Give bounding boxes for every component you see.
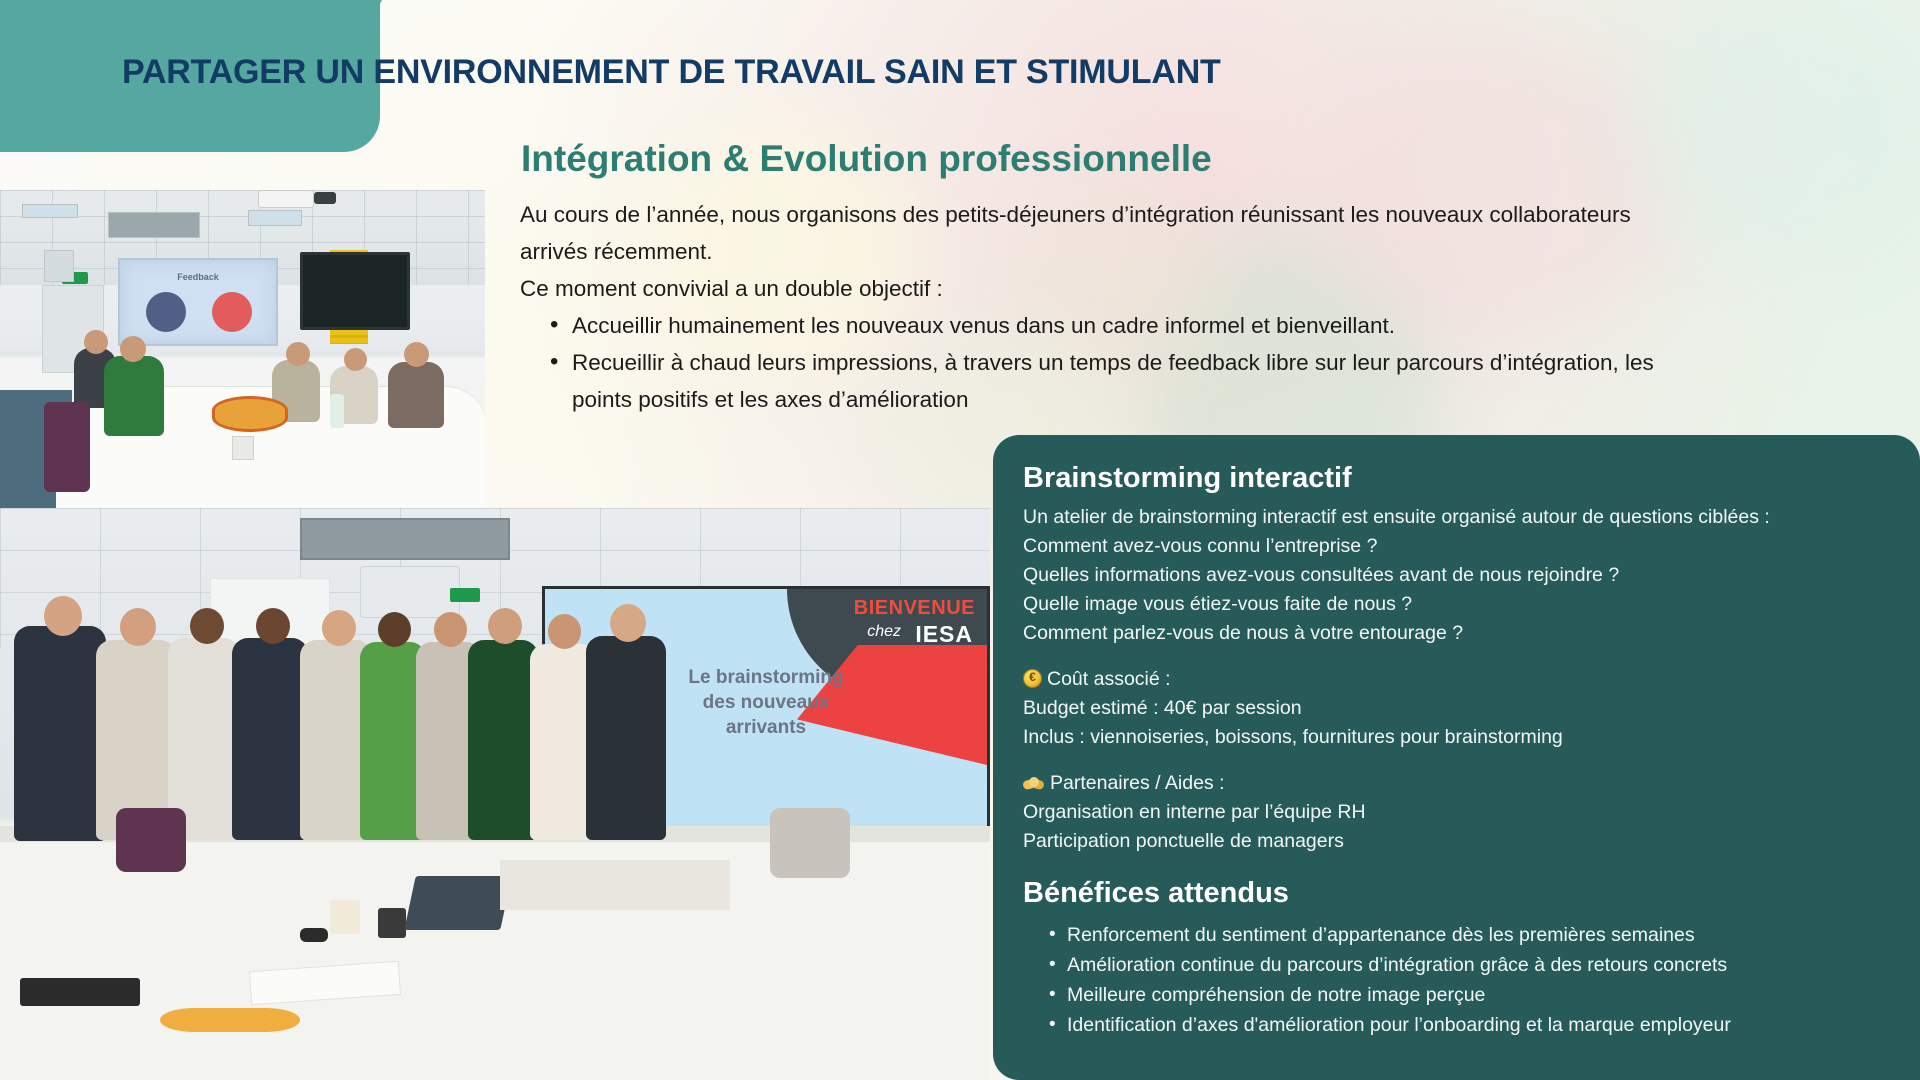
person-head — [548, 614, 581, 649]
list-item: Meilleure compréhension de notre image p… — [1049, 980, 1890, 1010]
projector — [258, 190, 314, 208]
background-bokeh — [1640, 0, 1920, 260]
person-head — [286, 342, 310, 366]
photo-illustration: Feedback — [0, 190, 485, 508]
thumbs-down-icon — [212, 292, 252, 332]
laptop — [404, 876, 511, 930]
euro-coin-icon — [1023, 669, 1042, 688]
air-conditioner — [44, 250, 74, 282]
intro-bullet-list: Accueillir humainement les nouveaux venu… — [546, 307, 1660, 418]
person — [388, 362, 444, 428]
brainstorming-info-panel: Brainstorming interactif Un atelier de b… — [993, 435, 1920, 1080]
screen-label: Feedback — [120, 272, 276, 282]
slide-chez-text: chez — [867, 623, 901, 641]
person-head — [610, 604, 646, 642]
ceiling-light — [300, 518, 510, 560]
slide-welcome-text: BIENVENUE — [854, 597, 975, 620]
keyboard — [20, 978, 140, 1006]
person-head — [344, 348, 367, 371]
television — [300, 252, 410, 330]
person-head — [190, 608, 224, 644]
list-item: Accueillir humainement les nouveaux venu… — [546, 307, 1660, 344]
cost-line: Inclus : viennoiseries, boissons, fourni… — [1023, 723, 1890, 752]
cost-label-row: Coût associé : — [1023, 665, 1890, 694]
spacer — [1023, 648, 1890, 665]
projector-mount — [314, 192, 336, 204]
spacer — [1023, 752, 1890, 769]
panel-intro-line: Un atelier de brainstorming interactif e… — [1023, 503, 1890, 532]
exit-sign — [450, 588, 480, 602]
meeting-room-feedback-photo: Feedback — [0, 190, 485, 508]
cost-label: Coût associé : — [1047, 668, 1171, 690]
ceiling-light — [108, 212, 200, 238]
chair — [116, 808, 186, 872]
person-head — [44, 596, 82, 636]
list-item: Amélioration continue du parcours d’inté… — [1049, 950, 1890, 980]
panel-heading: Brainstorming interactif — [1023, 459, 1890, 497]
photo-illustration: BIENVENUE chez IESA Le brainstorming des… — [0, 508, 990, 1080]
mug — [378, 908, 406, 938]
person-head — [378, 612, 411, 647]
person-head — [84, 330, 108, 354]
ceiling-light — [248, 210, 302, 226]
list-item: Identification d’axes d'amélioration pou… — [1049, 1010, 1890, 1040]
cup — [330, 900, 360, 934]
projection-screen: Feedback — [118, 258, 278, 346]
intro-copy: Au cours de l’année, nous organisons des… — [520, 196, 1660, 418]
benefits-heading: Bénéfices attendus — [1023, 874, 1890, 912]
cost-line: Budget estimé : 40€ par session — [1023, 694, 1890, 723]
panel-question: Comment avez-vous connu l’entreprise ? — [1023, 532, 1890, 561]
slide-brand-text: IESA — [915, 621, 973, 648]
person-head — [488, 608, 522, 644]
ceiling-light — [22, 204, 78, 218]
partners-label: Partenaires / Aides : — [1050, 772, 1225, 794]
person — [14, 626, 106, 841]
person-head — [434, 612, 467, 647]
person — [586, 636, 666, 840]
benefits-list: Renforcement du sentiment d’appartenance… — [1049, 920, 1890, 1040]
partners-line: Participation ponctuelle de managers — [1023, 827, 1890, 856]
cable-coil — [160, 1008, 300, 1032]
remote — [300, 928, 328, 942]
partners-line: Organisation en interne par l’équipe RH — [1023, 798, 1890, 827]
person-head — [256, 608, 290, 644]
water-bottle — [330, 394, 344, 428]
slide-root: PARTAGER UN ENVIRONNEMENT DE TRAVAIL SAI… — [0, 0, 1920, 1080]
page-title: PARTAGER UN ENVIRONNEMENT DE TRAVAIL SAI… — [122, 53, 1221, 92]
page-subtitle: Intégration & Evolution professionnelle — [521, 138, 1212, 180]
pastry-basket — [212, 396, 288, 432]
chair — [770, 808, 850, 878]
person — [232, 638, 308, 840]
intro-paragraph-2: Ce moment convivial a un double objectif… — [520, 270, 1660, 307]
person — [468, 640, 538, 840]
person-head — [322, 610, 356, 646]
partners-label-row: Partenaires / Aides : — [1023, 769, 1890, 798]
side-cabinet — [500, 860, 730, 910]
panel-question: Comment parlez-vous de nous à votre ento… — [1023, 619, 1890, 648]
list-item: Recueillir à chaud leurs impressions, à … — [546, 344, 1660, 418]
person-head — [120, 336, 146, 362]
chair — [44, 402, 90, 492]
person-head — [120, 608, 156, 646]
person — [104, 356, 164, 436]
pen-holder — [232, 436, 254, 460]
thumbs-up-icon — [146, 292, 186, 332]
intro-paragraph-1: Au cours de l’année, nous organisons des… — [520, 196, 1660, 270]
panel-question: Quelles informations avez-vous consultée… — [1023, 561, 1890, 590]
person-head — [404, 342, 429, 367]
panel-question: Quelle image vous étiez-vous faite de no… — [1023, 590, 1890, 619]
list-item: Renforcement du sentiment d’appartenance… — [1049, 920, 1890, 950]
handshake-icon — [1023, 777, 1044, 791]
group-photo-brainstorming: BIENVENUE chez IESA Le brainstorming des… — [0, 508, 990, 1080]
air-conditioner — [360, 566, 460, 618]
